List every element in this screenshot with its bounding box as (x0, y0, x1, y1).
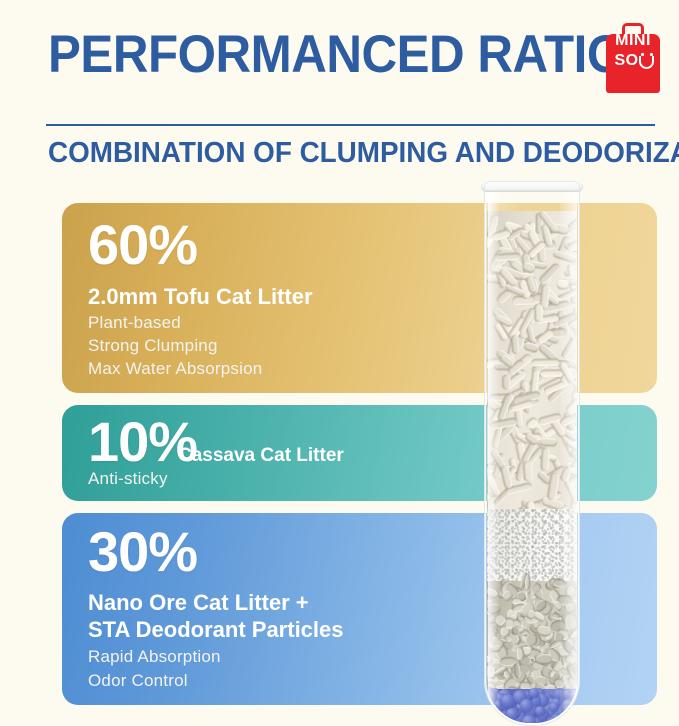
bar-detail-nano-ore-1: Rapid Absorption (88, 645, 221, 668)
bar-headline-nano-ore-line1: Nano Ore Cat Litter + (88, 590, 309, 616)
bar-detail-nano-ore-2: Odor Control (88, 669, 188, 692)
tofu-pellet (553, 250, 577, 264)
page-title: PERFORMANCED RATIO (48, 26, 625, 84)
percent-value-tofu: 60% (88, 217, 197, 273)
bar-detail-tofu-1: Plant-based (88, 311, 181, 334)
test-tube-illustration (484, 181, 580, 726)
miniso-logo: MINI SO (606, 23, 660, 93)
sta-deodorant-spheres-layer (487, 689, 577, 723)
sta-deodorant-sphere (487, 702, 498, 715)
tofu-pellet (561, 337, 577, 359)
tofu-pellet (569, 477, 577, 486)
bar-detail-tofu-2: Strong Clumping (88, 334, 218, 357)
nano-ore-chunk (536, 654, 552, 665)
tube-glass (484, 181, 580, 726)
tofu-pellet (540, 437, 557, 446)
tofu-pellet (493, 253, 520, 261)
smile-eye-right-icon (650, 53, 653, 56)
tofu-pellets-layer (487, 211, 577, 509)
page-subtitle: COMBINATION OF CLUMPING AND DEODORIZATIO… (48, 136, 679, 170)
nano-ore-chunk (492, 645, 501, 652)
smile-eye-left-icon (641, 53, 644, 56)
tofu-pellet (502, 375, 510, 390)
percent-value-nano-ore: 30% (88, 524, 197, 580)
tofu-pellet (523, 461, 533, 482)
tofu-pellet (557, 280, 570, 290)
logo-text-mini: MINI (606, 32, 660, 50)
nano-ore-chunks-layer (487, 581, 577, 689)
sta-deodorant-sphere (535, 706, 545, 716)
tube-contents (487, 192, 577, 723)
header: PERFORMANCED RATIO MINI SO COMBINATION O… (0, 0, 679, 185)
header-divider (46, 124, 655, 126)
bar-headline-nano-ore-line2: STA Deodorant Particles (88, 617, 344, 643)
nano-ore-chunk (487, 587, 499, 599)
bar-headline-cassava: Cassava Cat Litter (178, 443, 344, 469)
tofu-pellet (540, 370, 563, 377)
sta-deodorant-sphere (501, 694, 515, 708)
nano-ore-chunk (565, 614, 577, 630)
tofu-pellet (532, 359, 560, 367)
bar-headline-tofu: 2.0mm Tofu Cat Litter (88, 284, 313, 310)
tofu-pellet (535, 304, 543, 322)
bar-detail-tofu-3: Max Water Absorpsion (88, 357, 262, 380)
cassava-powder-layer (487, 509, 577, 581)
tofu-pellet (541, 447, 551, 470)
bar-detail-cassava-1: Anti-sticky (88, 467, 168, 490)
sta-deodorant-sphere (570, 690, 577, 701)
tube-rim (481, 181, 583, 192)
